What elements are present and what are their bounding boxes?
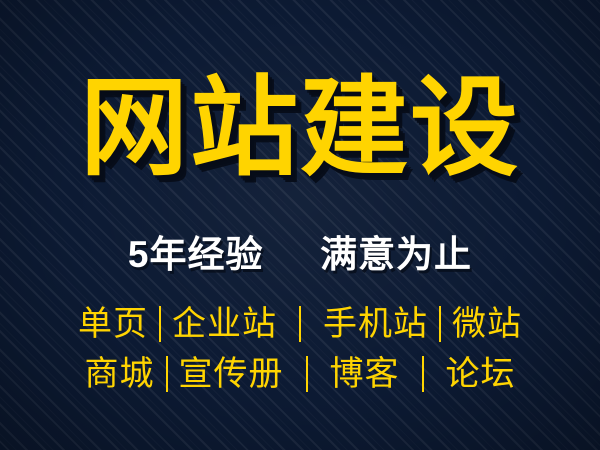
slogan-right: 满意为止 bbox=[320, 234, 472, 275]
service-tag[interactable]: 博客 bbox=[328, 357, 402, 391]
service-tag[interactable]: 商城 bbox=[83, 357, 157, 391]
tag-separator bbox=[159, 306, 161, 342]
service-tag[interactable]: 手机站 bbox=[321, 307, 430, 341]
promo-poster: 网站建设 5年经验 满意为止 单页 企业站 手机站 微站 商城 宣传册 博客 论… bbox=[0, 0, 600, 450]
service-tag[interactable]: 论坛 bbox=[444, 357, 518, 391]
poster-content: 网站建设 5年经验 满意为止 单页 企业站 手机站 微站 商城 宣传册 博客 论… bbox=[0, 0, 600, 450]
service-tag[interactable]: 单页 bbox=[76, 307, 150, 341]
service-tag[interactable]: 企业站 bbox=[170, 307, 279, 341]
service-tag[interactable]: 微站 bbox=[450, 307, 524, 341]
page-title: 网站建设 bbox=[0, 74, 600, 182]
tag-separator bbox=[439, 306, 441, 342]
tag-separator bbox=[306, 356, 308, 392]
slogan-left: 5年经验 bbox=[128, 234, 264, 275]
tag-separator bbox=[299, 306, 301, 342]
tag-separator bbox=[166, 356, 168, 392]
service-tag-row-1: 单页 企业站 手机站 微站 bbox=[0, 306, 600, 342]
service-tag[interactable]: 宣传册 bbox=[177, 357, 286, 391]
tag-separator bbox=[422, 356, 424, 392]
slogan-line: 5年经验 满意为止 bbox=[0, 236, 600, 273]
service-tag-row-2: 商城 宣传册 博客 论坛 bbox=[0, 356, 600, 392]
